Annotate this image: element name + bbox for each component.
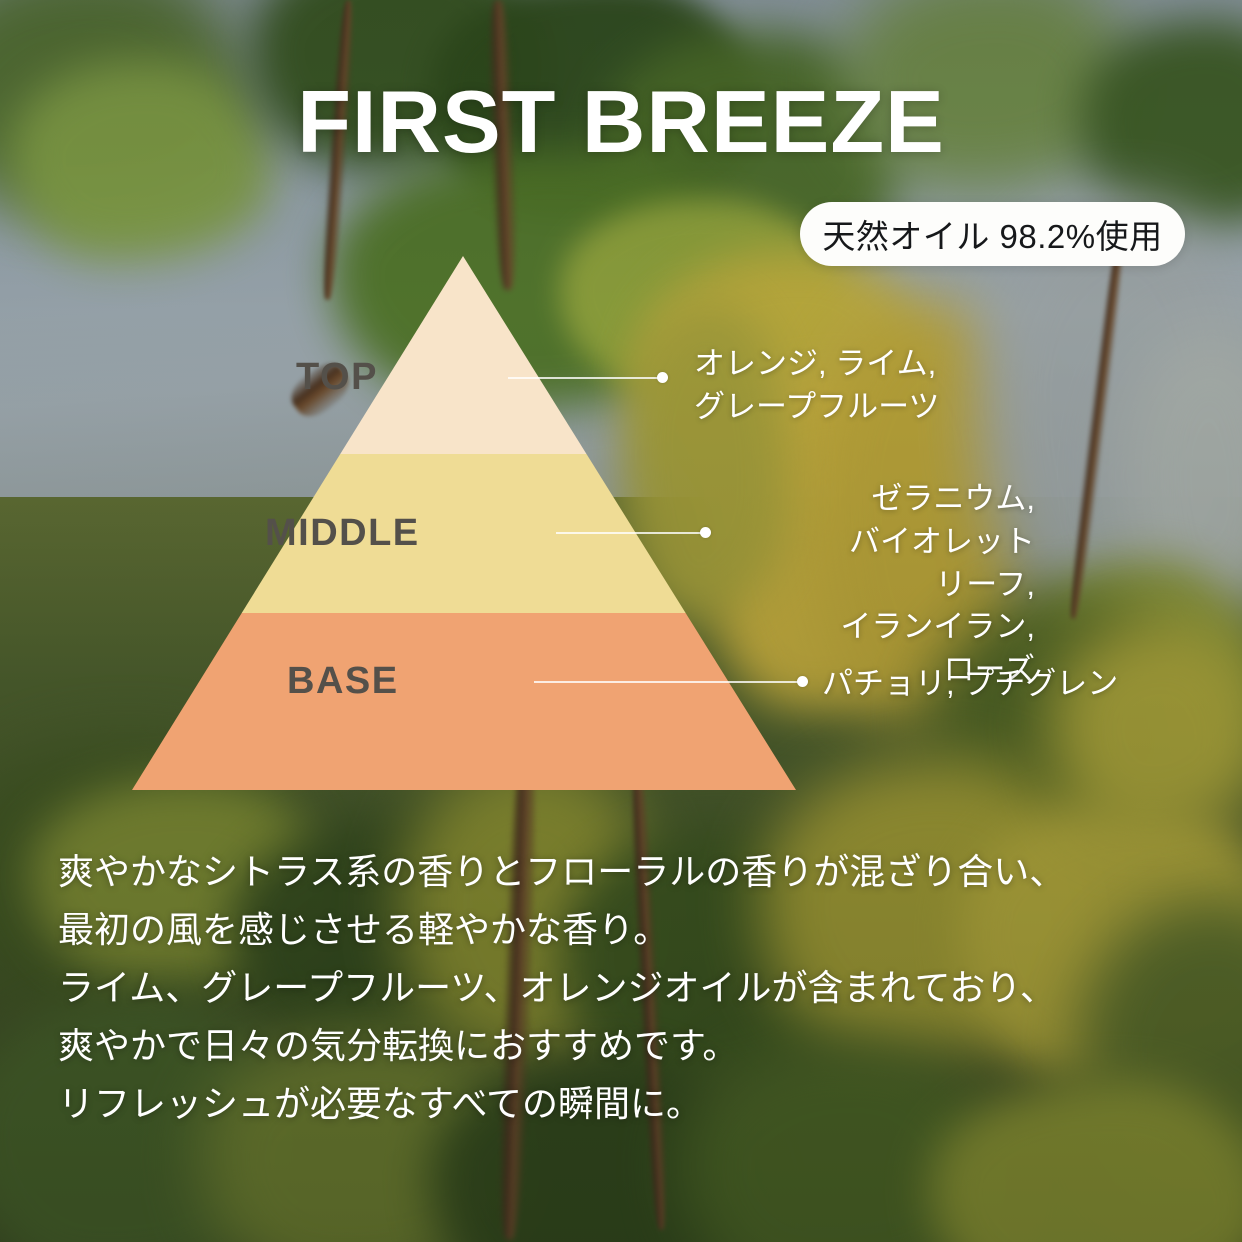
notes-top: オレンジ, ライム, グレープフルーツ — [694, 343, 940, 429]
product-scent-graphic: FIRST BREEZE 天然オイル 98.2%使用 TOP MIDDLE BA… — [0, 0, 1242, 1242]
notes-middle: ゼラニウム, バイオレットリーフ, イランイラン, ローズ — [828, 478, 1035, 692]
leader-line-top — [508, 377, 660, 379]
badge-label: 天然オイル 98.2%使用 — [822, 210, 1162, 258]
description-text: 爽やかなシトラス系の香りとフローラルの香りが混ざり合い、 最初の風を感じさせる軽… — [58, 843, 1178, 1133]
status-badge: 天然オイル 98.2%使用 — [800, 202, 1185, 266]
page-title: FIRST BREEZE — [0, 78, 1242, 166]
tier-label-top: TOP — [296, 356, 378, 399]
tier-label-middle: MIDDLE — [265, 512, 420, 555]
leader-dot-middle — [700, 527, 711, 538]
leader-dot-top — [657, 372, 668, 383]
scent-pyramid — [132, 256, 796, 790]
leader-dot-base — [797, 676, 808, 687]
leader-line-base — [534, 681, 800, 683]
pyramid-tier-base — [132, 613, 796, 790]
tier-label-base: BASE — [287, 660, 399, 703]
notes-base: パチョリ, プチグレン — [822, 663, 1118, 706]
leader-line-middle — [556, 532, 702, 534]
